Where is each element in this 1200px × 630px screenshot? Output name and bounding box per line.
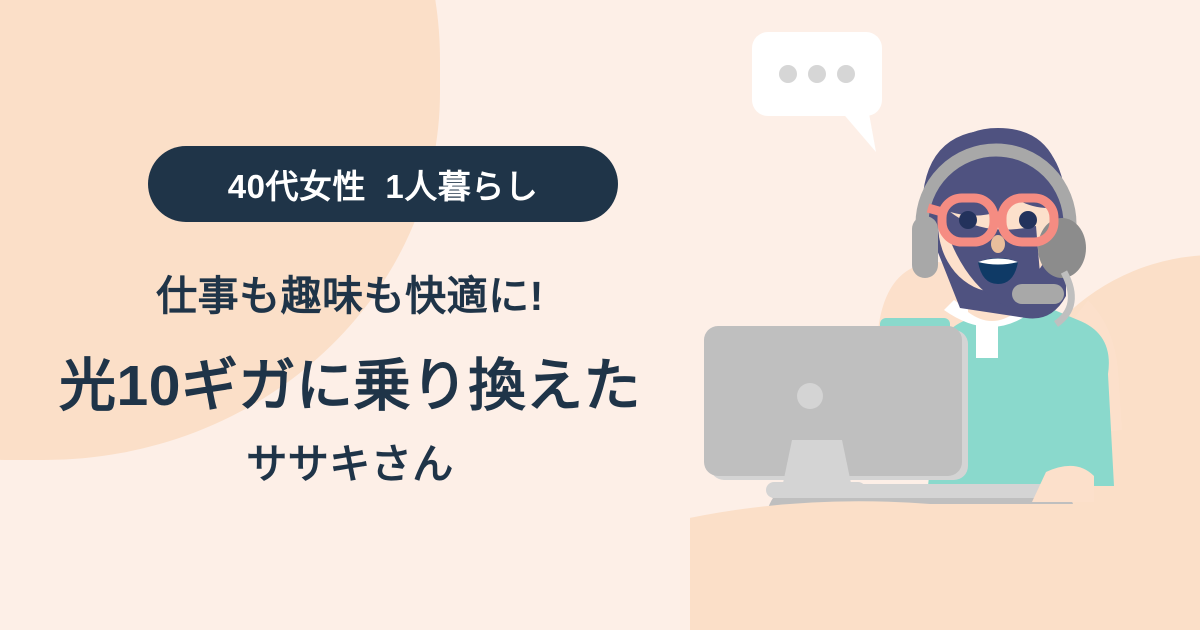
typing-indicator-bubble [752, 32, 882, 152]
audience-badge-label: 40代女性 1人暮らし [228, 160, 538, 208]
bubble-dot [837, 65, 855, 83]
bubble-dot [779, 65, 797, 83]
monitor-illustration [704, 326, 968, 498]
headline-line-2: 光10ギガに乗り換えた [0, 340, 700, 422]
illustration-woman-at-desk [690, 0, 1200, 630]
bubble-dot [808, 65, 826, 83]
headline-line-1: 仕事も趣味も快適に! [0, 262, 700, 322]
desk-surface [690, 501, 1200, 630]
text-column: 40代女性 1人暮らし 仕事も趣味も快適に! 光10ギガに乗り換えた ササキさん [0, 0, 700, 630]
eye-left [959, 211, 977, 229]
promo-banner: 40代女性 1人暮らし 仕事も趣味も快適に! 光10ギガに乗り換えた ササキさん [0, 0, 1200, 630]
eye-right [1019, 211, 1037, 229]
headline-line-3: ササキさん [0, 430, 700, 490]
audience-badge: 40代女性 1人暮らし [148, 146, 618, 222]
